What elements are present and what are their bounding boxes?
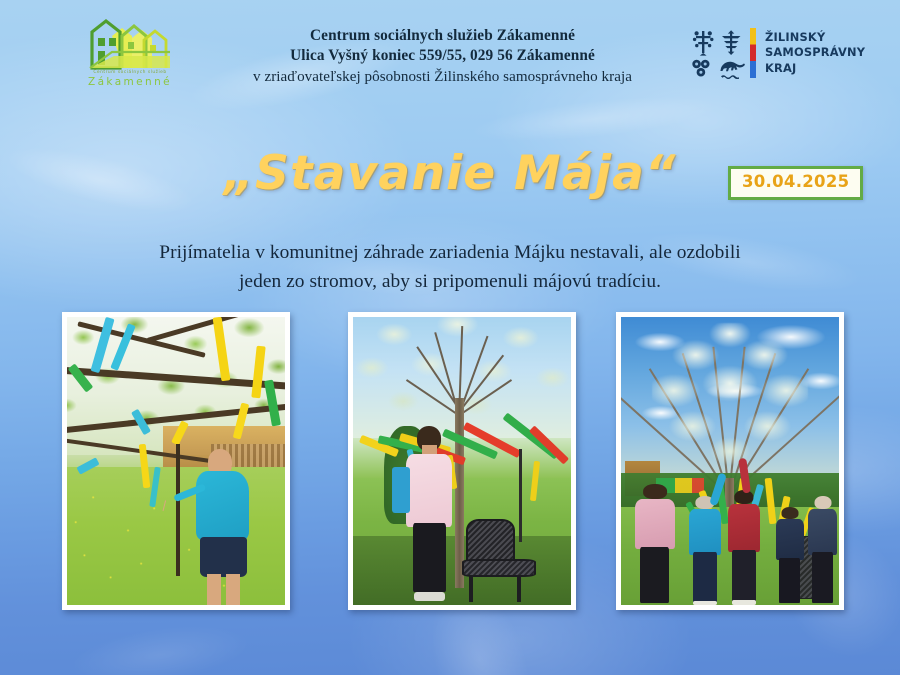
- person-legs: [640, 547, 669, 603]
- person-legs: [732, 550, 756, 603]
- person-in-blue-shirt: [686, 496, 723, 605]
- tricolor-bar: [750, 28, 756, 78]
- person-torso: [808, 509, 837, 555]
- date-badge: 30.04.2025: [728, 166, 863, 200]
- chair-leg: [517, 575, 521, 602]
- person-torso: [776, 519, 805, 560]
- csszk-logo-line2: Zákamenné: [78, 76, 182, 88]
- photo-1-image: [67, 317, 285, 605]
- person-legs: [779, 558, 800, 603]
- zsk-line3: KRAJ: [765, 61, 865, 77]
- chair-back: [466, 519, 515, 562]
- photo-2-image: [353, 317, 571, 605]
- zsk-line2: SAMOSPRÁVNY: [765, 45, 865, 61]
- person-leg: [207, 574, 221, 605]
- body-text: Prijímatelia v komunitnej záhrade zariad…: [100, 238, 800, 297]
- person-trousers: [413, 523, 446, 592]
- photo-man-tying-ribbons: [62, 312, 290, 610]
- csszk-logo-text: Centrum sociálnych služieb Zákamenné: [78, 70, 182, 88]
- csszk-logo: Centrum sociálnych služieb Zákamenné: [78, 18, 182, 94]
- chair-seat: [462, 559, 536, 577]
- person-shoes: [732, 600, 756, 605]
- person-head: [781, 507, 798, 519]
- person-in-dark-jacket: [774, 507, 807, 605]
- person-legs: [693, 552, 717, 602]
- person-shirt: [406, 454, 452, 527]
- person-shoes: [414, 592, 445, 601]
- organisation-block: Centrum sociálnych služieb Zákamenné Uli…: [195, 26, 690, 87]
- person-in-pink-shirt: [632, 484, 678, 605]
- chair-leg: [469, 575, 473, 602]
- photo-man-by-decorated-tree: [348, 312, 576, 610]
- body-text-line2: jeden zo stromov, aby si pripomenuli máj…: [100, 267, 800, 296]
- person-head: [643, 484, 667, 499]
- csszk-logo-line1: Centrum sociálnych služieb: [78, 70, 182, 75]
- person-shoes: [693, 601, 717, 605]
- person-in-pink-shirt: [405, 426, 453, 599]
- support-pole: [176, 444, 180, 576]
- person-head: [814, 496, 831, 509]
- three-houses-logo-icon: [78, 18, 182, 70]
- person-torso: [728, 504, 761, 552]
- organisation-founder: v zriaďovateľskej pôsobnosti Žilinského …: [195, 67, 690, 87]
- cloud-wisp: [36, 604, 283, 675]
- photo-3-image: [621, 317, 839, 605]
- person-torso: [635, 499, 675, 550]
- person-in-cyan-shirt: [185, 449, 263, 605]
- person-torso: [196, 471, 249, 539]
- photo-group-decorating-tree: [616, 312, 844, 610]
- header: Centrum sociálnych služieb Zákamenné Cen…: [0, 0, 900, 100]
- person-legs: [812, 552, 833, 602]
- person-in-grey-jacket: [806, 496, 839, 605]
- person-leg: [226, 574, 240, 605]
- blue-bag: [392, 467, 409, 513]
- zilina-region-logo-text: ŽILINSKÝ SAMOSPRÁVNY KRAJ: [765, 30, 865, 77]
- zilina-region-crest-icon: [690, 27, 746, 79]
- body-text-line1: Prijímatelia v komunitnej záhrade zariad…: [100, 238, 800, 267]
- person-in-red-top: [726, 490, 763, 605]
- zilina-region-logo: ŽILINSKÝ SAMOSPRÁVNY KRAJ: [690, 24, 840, 82]
- zsk-line1: ŽILINSKÝ: [765, 30, 865, 46]
- garden-chair: [462, 519, 536, 603]
- organisation-address: Ulica Vyšný koniec 559/55, 029 56 Zákame…: [195, 46, 690, 66]
- organisation-name: Centrum sociálnych služieb Zákamenné: [195, 26, 690, 46]
- poster-slide: Centrum sociálnych služieb Zákamenné Cen…: [0, 0, 900, 675]
- person-shorts: [200, 537, 247, 577]
- person-torso: [689, 509, 722, 555]
